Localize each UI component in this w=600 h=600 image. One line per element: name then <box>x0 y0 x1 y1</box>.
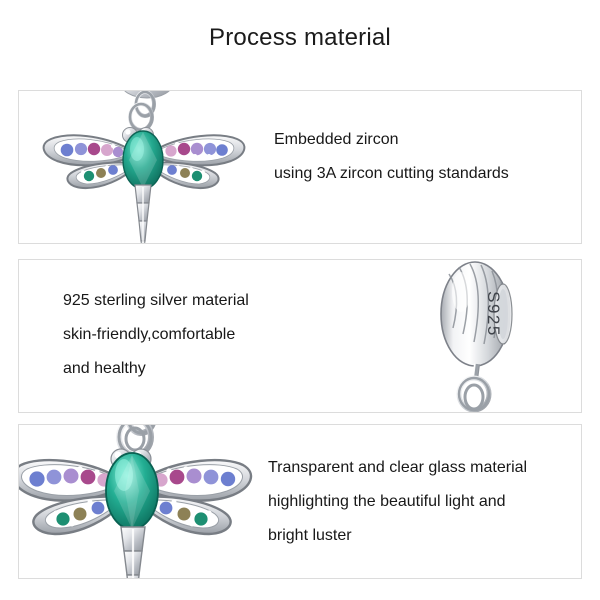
dragonfly-charm-closeup-image <box>18 424 283 579</box>
panel-2-line-2: skin-friendly,comfortable <box>63 318 249 352</box>
bead-dangle-loops <box>459 364 489 410</box>
wing-upper-right <box>157 135 244 165</box>
panel-2-line-3: and healthy <box>63 352 249 386</box>
panel-3-line-2: highlighting the beautiful light and <box>268 485 527 519</box>
panel-2-line-1: 925 sterling silver material <box>63 284 249 318</box>
panel-3-line-1: Transparent and clear glass material <box>268 451 527 485</box>
dragonfly-charm-zircon-image <box>29 90 269 244</box>
wing-upper-right-large <box>147 460 251 500</box>
wing-lower-left-large <box>33 497 119 534</box>
panel-3-line-3: bright luster <box>268 519 527 553</box>
center-gem-large <box>106 453 158 529</box>
panel-3-text: Transparent and clear glass material hig… <box>268 451 527 553</box>
wing-lower-left <box>67 162 130 188</box>
infographic-page: Process material <box>0 0 600 600</box>
wing-lower-right-large <box>145 497 231 534</box>
panel-2-text: 925 sterling silver material skin-friend… <box>63 284 249 386</box>
center-gem <box>123 131 163 189</box>
wing-upper-left <box>44 135 129 165</box>
panel-sterling-silver: 925 sterling silver material skin-friend… <box>18 259 582 413</box>
panel-1-text: Embedded zircon using 3A zircon cutting … <box>274 123 509 191</box>
panel-1-line-2: using 3A zircon cutting standards <box>274 157 509 191</box>
page-title: Process material <box>0 24 600 52</box>
panel-embedded-zircon: Embedded zircon using 3A zircon cutting … <box>18 90 582 244</box>
s925-silver-bead-image: S925 <box>419 259 569 413</box>
dragonfly-tail-large <box>121 527 145 579</box>
panel-1-line-1: Embedded zircon <box>274 123 509 157</box>
dragonfly-tail <box>135 185 151 244</box>
wing-lower-right <box>156 162 219 188</box>
s925-stamp: S925 <box>484 291 503 337</box>
wing-upper-left-large <box>18 460 117 500</box>
panel-glass-material: Transparent and clear glass material hig… <box>18 424 582 579</box>
